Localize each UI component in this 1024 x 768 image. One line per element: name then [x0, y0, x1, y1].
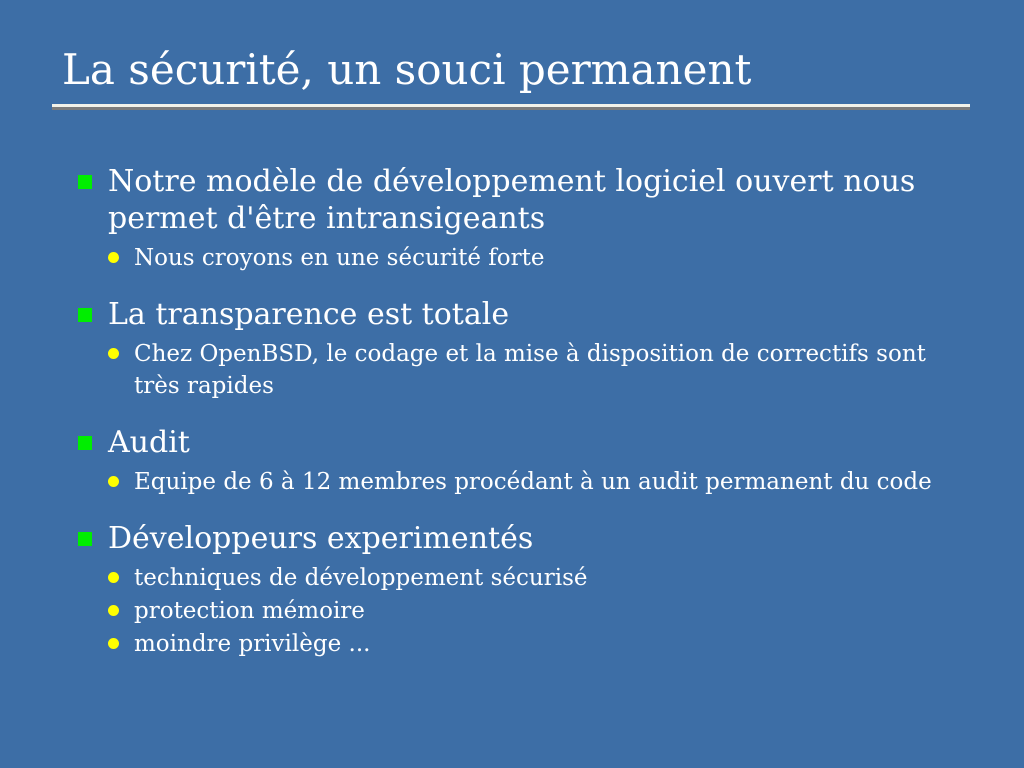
dot-bullet-icon	[108, 252, 119, 263]
bullet-group: La transparence est totale Chez OpenBSD,…	[78, 296, 978, 402]
bullet-level2: Chez OpenBSD, le codage et la mise à dis…	[108, 338, 978, 402]
bullet-level2-list: techniques de développement sécurisé pro…	[78, 562, 978, 660]
square-bullet-icon	[78, 532, 92, 546]
title-divider	[52, 104, 970, 110]
page-title: La sécurité, un souci permanent	[52, 44, 970, 96]
bullet-level2-list: Equipe de 6 à 12 membres procédant à un …	[78, 466, 978, 498]
bullet-level2-label: Nous croyons en une sécurité forte	[134, 242, 978, 274]
bullet-level2: Equipe de 6 à 12 membres procédant à un …	[108, 466, 978, 498]
presentation-slide: La sécurité, un souci permanent Notre mo…	[0, 0, 1024, 768]
bullet-level2-list: Chez OpenBSD, le codage et la mise à dis…	[78, 338, 978, 402]
square-bullet-icon	[78, 308, 92, 322]
square-bullet-icon	[78, 175, 92, 189]
bullet-level1: La transparence est totale	[78, 296, 978, 333]
bullet-level2-label: moindre privilège ...	[134, 628, 978, 660]
bullet-level1-label: Notre modèle de développement logiciel o…	[108, 163, 978, 237]
bullet-level1: Audit	[78, 424, 978, 461]
bullet-level2-list: Nous croyons en une sécurité forte	[78, 242, 978, 274]
bullet-level2-label: techniques de développement sécurisé	[134, 562, 978, 594]
bullet-level2: Nous croyons en une sécurité forte	[108, 242, 978, 274]
slide-body: Notre modèle de développement logiciel o…	[78, 163, 978, 661]
bullet-level1: Développeurs experimentés	[78, 520, 978, 557]
bullet-level2-label: Chez OpenBSD, le codage et la mise à dis…	[134, 338, 978, 402]
slide-title-block: La sécurité, un souci permanent	[52, 44, 970, 110]
bullet-level2: protection mémoire	[108, 595, 978, 627]
dot-bullet-icon	[108, 476, 119, 487]
bullet-level2: moindre privilège ...	[108, 628, 978, 660]
bullet-level1: Notre modèle de développement logiciel o…	[78, 163, 978, 237]
bullet-level1-label: La transparence est totale	[108, 296, 978, 333]
bullet-level2: techniques de développement sécurisé	[108, 562, 978, 594]
square-bullet-icon	[78, 436, 92, 450]
bullet-group: Développeurs experimentés techniques de …	[78, 520, 978, 660]
bullet-level1-label: Développeurs experimentés	[108, 520, 978, 557]
dot-bullet-icon	[108, 572, 119, 583]
dot-bullet-icon	[108, 638, 119, 649]
bullet-level2-label: protection mémoire	[134, 595, 978, 627]
bullet-level1-label: Audit	[108, 424, 978, 461]
dot-bullet-icon	[108, 605, 119, 616]
bullet-level2-label: Equipe de 6 à 12 membres procédant à un …	[134, 466, 978, 498]
bullet-group: Audit Equipe de 6 à 12 membres procédant…	[78, 424, 978, 498]
bullet-group: Notre modèle de développement logiciel o…	[78, 163, 978, 274]
dot-bullet-icon	[108, 348, 119, 359]
